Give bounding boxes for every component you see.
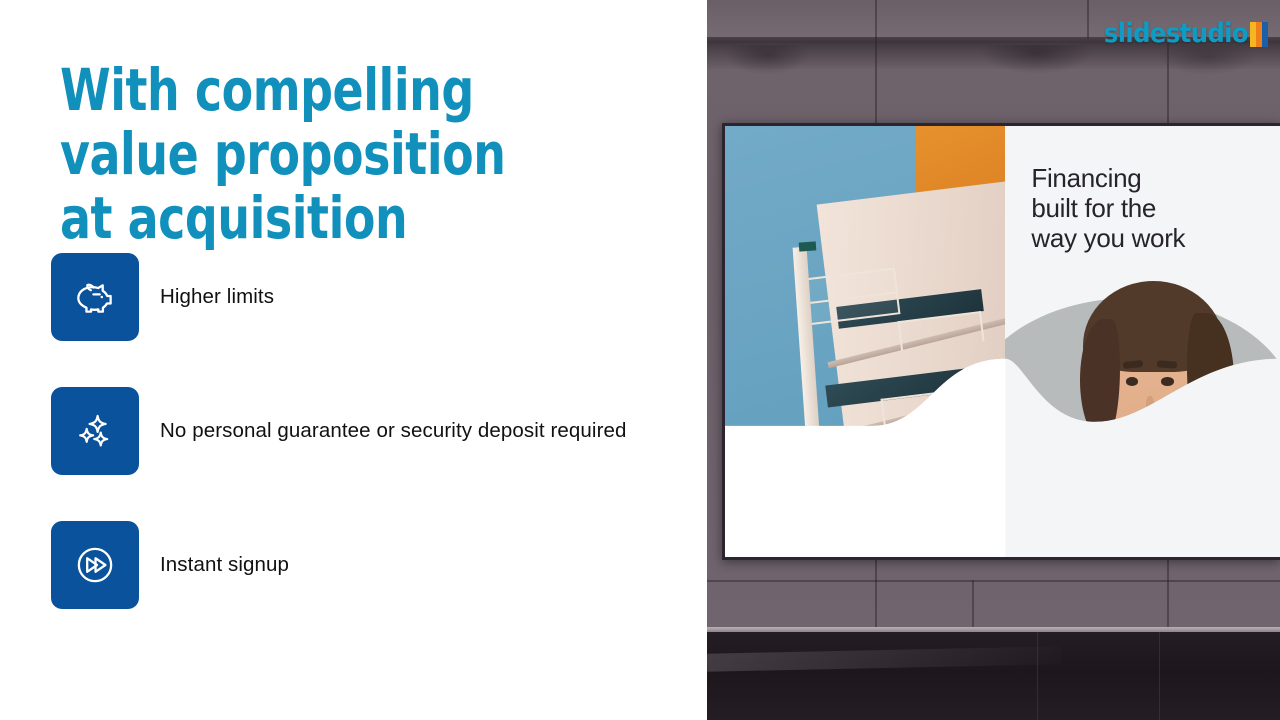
nose bbox=[1146, 396, 1154, 417]
mouth bbox=[1132, 423, 1169, 438]
wall-seam bbox=[972, 580, 974, 630]
granite-sheen bbox=[707, 646, 1062, 671]
eye bbox=[1161, 377, 1173, 386]
page-title: With compelling value proposition at acq… bbox=[60, 58, 553, 250]
feature-list: Higher limits No personal guarantee or s… bbox=[51, 253, 691, 609]
feature-label: No personal guarantee or security deposi… bbox=[160, 419, 627, 443]
hair-left bbox=[1080, 319, 1120, 442]
feature-label: Higher limits bbox=[160, 285, 274, 309]
wall-seam bbox=[707, 580, 1280, 582]
ad-headline: Financingbuilt for theway you work bbox=[1031, 163, 1185, 253]
feature-icon-tile bbox=[51, 521, 139, 609]
brand-logo-mark-icon bbox=[1250, 20, 1268, 47]
billboard-panel: Financingbuilt for theway you work bbox=[722, 123, 1280, 560]
teeth bbox=[1135, 424, 1167, 431]
wall-stain bbox=[707, 45, 1280, 100]
billboard-ad-panel: Financingbuilt for theway you work bbox=[1005, 126, 1280, 557]
billboard-left-photo bbox=[725, 126, 1005, 557]
feature-icon-tile bbox=[51, 253, 139, 341]
feature-icon-tile bbox=[51, 387, 139, 475]
billboard-photo: Financingbuilt for theway you work bbox=[707, 0, 1280, 720]
granite-cap bbox=[707, 627, 1280, 632]
content-column: With compelling value proposition at acq… bbox=[0, 0, 707, 720]
slide-root: With compelling value proposition at acq… bbox=[0, 0, 1280, 720]
feature-item-higher-limits[interactable]: Higher limits bbox=[51, 253, 691, 341]
piggy-bank-icon bbox=[70, 272, 120, 322]
sparkles-icon bbox=[70, 406, 120, 456]
hair-right bbox=[1187, 313, 1233, 447]
scaffold-mast-cap bbox=[799, 242, 816, 252]
granite-seam bbox=[1037, 632, 1038, 720]
portrait-photo bbox=[1077, 281, 1231, 548]
feature-label: Instant signup bbox=[160, 553, 289, 577]
feature-item-instant-signup[interactable]: Instant signup bbox=[51, 521, 691, 609]
wall-seam bbox=[1087, 0, 1089, 38]
fast-forward-circle-icon bbox=[70, 540, 120, 590]
eye bbox=[1126, 377, 1138, 386]
granite-seam bbox=[1159, 632, 1160, 720]
feature-item-no-personal-guarantee[interactable]: No personal guarantee or security deposi… bbox=[51, 387, 691, 475]
granite-base bbox=[707, 632, 1280, 720]
brand-logo-text: slidestudio bbox=[1104, 18, 1248, 49]
brand-logo[interactable]: slidestudio bbox=[1104, 18, 1268, 48]
